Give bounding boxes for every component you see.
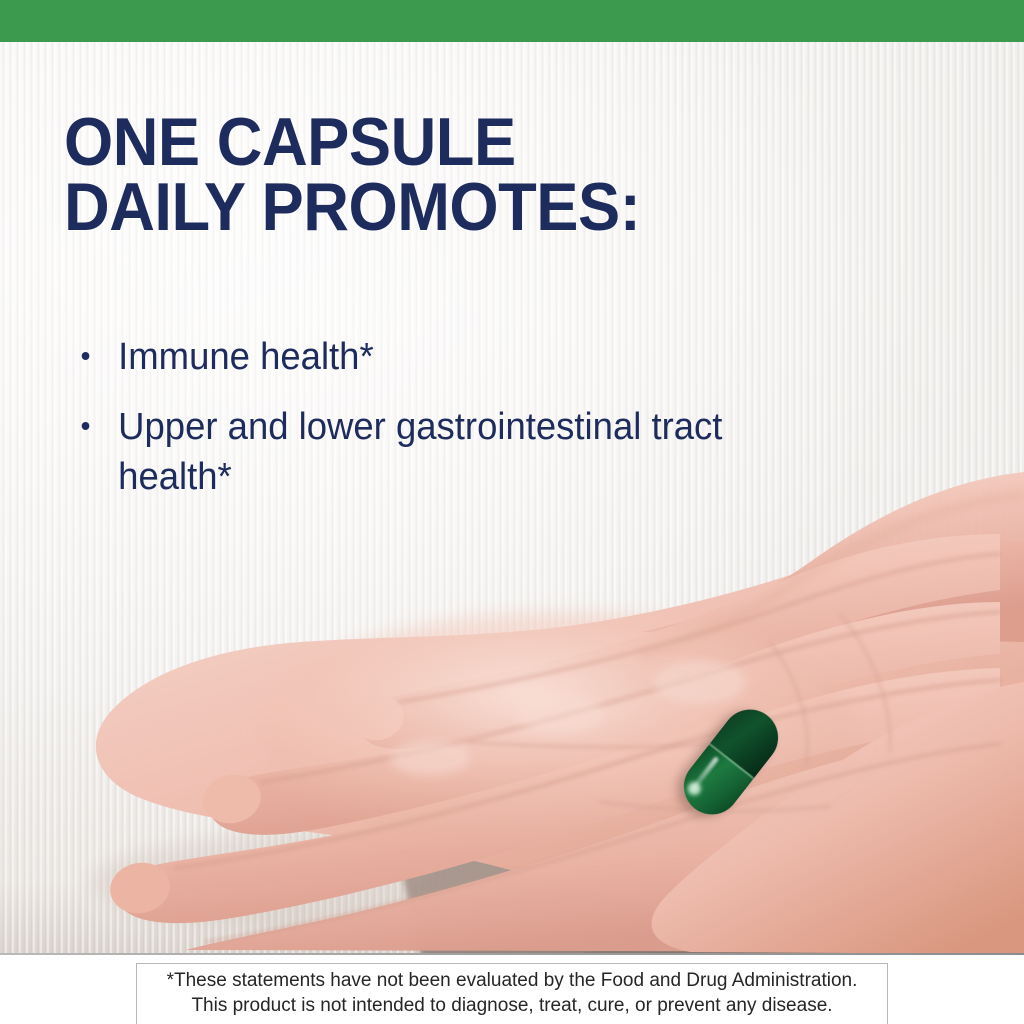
page-title: ONE CAPSULE DAILY PROMOTES:	[64, 110, 827, 239]
disclaimer-area: *These statements have not been evaluate…	[0, 955, 1024, 1024]
disclaimer-line-1: *These statements have not been evaluate…	[143, 968, 881, 993]
benefit-text: Immune health*	[118, 336, 374, 378]
benefits-list: Immune health* Upper and lower gastroint…	[74, 332, 804, 522]
top-green-accent-bar	[0, 0, 1024, 42]
disclaimer-line-2: This product is not intended to diagnose…	[143, 993, 881, 1018]
bullet-dot-icon	[82, 422, 90, 430]
list-item: Immune health*	[74, 332, 804, 382]
benefit-text: Upper and lower gastrointestinal tract h…	[118, 406, 722, 498]
bullet-dot-icon	[82, 352, 90, 360]
list-item: Upper and lower gastrointestinal tract h…	[74, 402, 804, 502]
fda-disclaimer-box: *These statements have not been evaluate…	[136, 963, 888, 1024]
product-infographic: ONE CAPSULE DAILY PROMOTES: Immune healt…	[0, 0, 1024, 1024]
